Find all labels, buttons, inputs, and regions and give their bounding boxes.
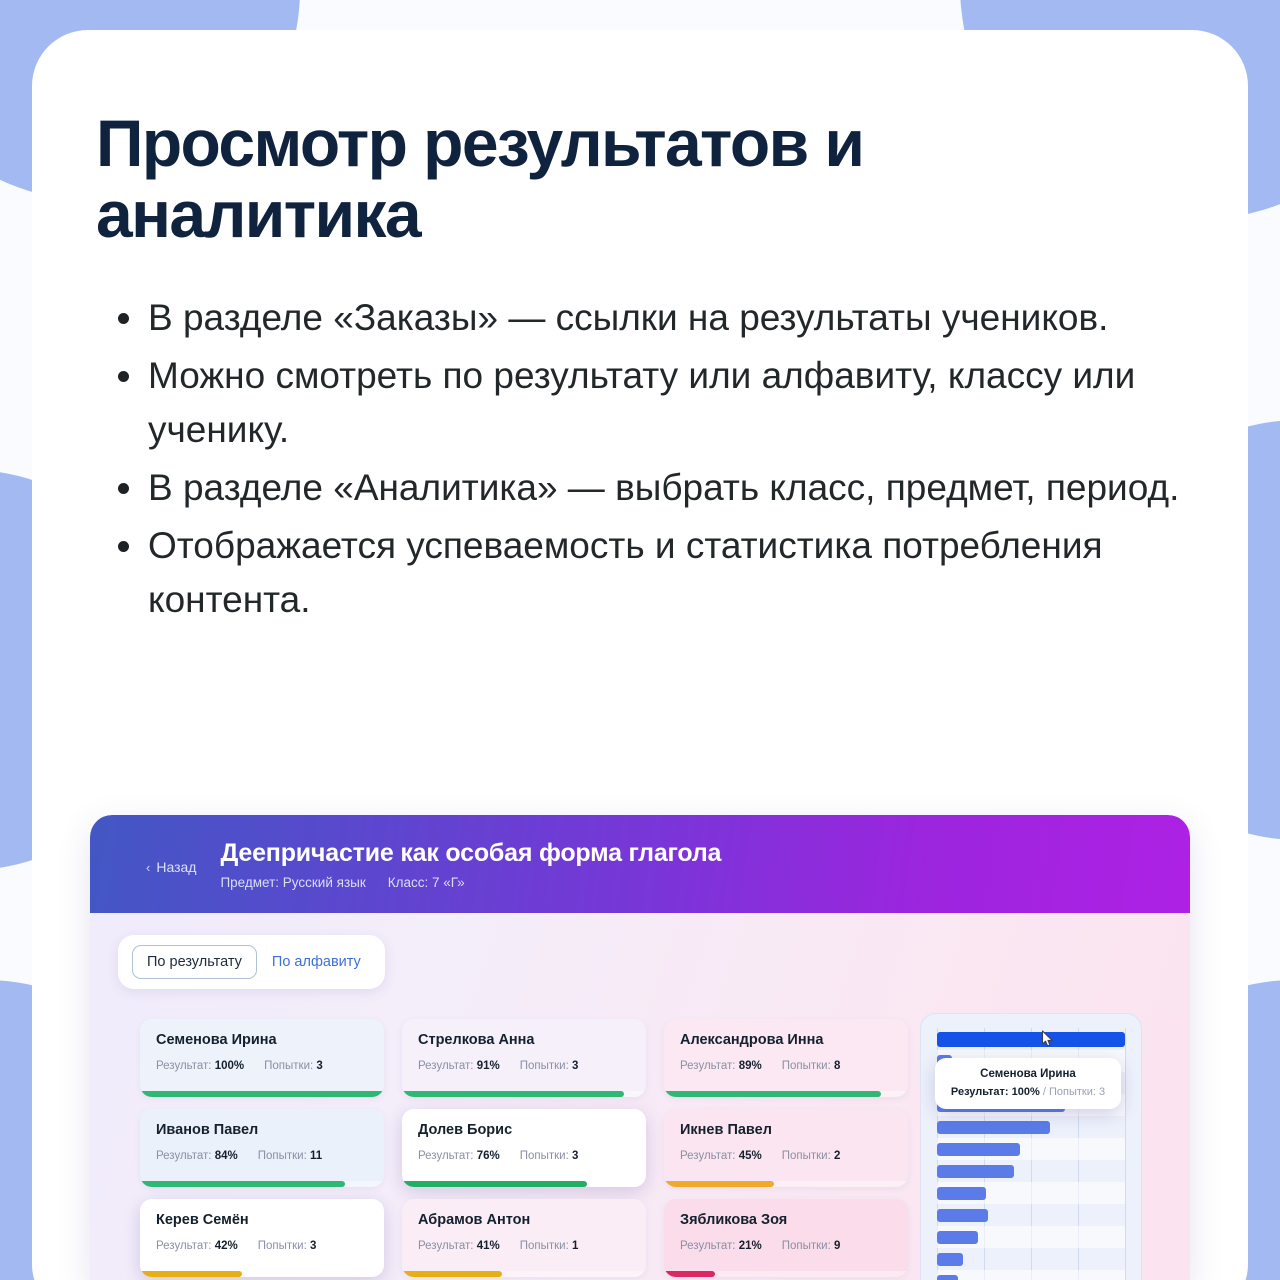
student-card[interactable]: Долев БорисРезультат: 76%Попытки: 3: [402, 1109, 646, 1187]
chart-bar[interactable]: [937, 1187, 986, 1200]
tooltip-meta: Результат: 100% / Попытки: 3: [943, 1086, 1113, 1098]
back-button-label: Назад: [156, 859, 196, 875]
student-name: Семенова Ирина: [156, 1032, 368, 1049]
chart-row[interactable]: [937, 1270, 1125, 1280]
student-name: Долев Борис: [418, 1122, 630, 1139]
student-name: Абрамов Антон: [418, 1212, 630, 1229]
student-card-grid: Семенова ИринаРезультат: 100%Попытки: 3С…: [140, 1019, 930, 1280]
student-result: Результат: 21%: [680, 1240, 762, 1252]
chart-tooltip: Семенова Ирина Результат: 100% / Попытки…: [935, 1058, 1121, 1109]
student-progress-track: [664, 1091, 908, 1097]
student-progress-track: [140, 1181, 384, 1187]
app-subheader: Предмет: Русский язык Класс: 7 «Г»: [220, 875, 721, 890]
student-metrics: Результат: 91%Попытки: 3: [418, 1060, 630, 1072]
student-card[interactable]: Керев СемёнРезультат: 42%Попытки: 3: [140, 1199, 384, 1277]
student-progress-track: [140, 1091, 384, 1097]
student-progress-track: [402, 1271, 646, 1277]
student-card[interactable]: Зябликова ЗояРезультат: 21%Попытки: 9: [664, 1199, 908, 1277]
student-progress-fill: [140, 1271, 242, 1277]
student-result: Результат: 76%: [418, 1150, 500, 1162]
chart-row[interactable]: [937, 1160, 1125, 1182]
student-attempts: Попытки: 3: [520, 1150, 579, 1162]
student-card[interactable]: Иванов ПавелРезультат: 84%Попытки: 11: [140, 1109, 384, 1187]
student-progress-fill: [664, 1271, 715, 1277]
student-progress-fill: [402, 1091, 624, 1097]
slide-card: Просмотр результатов и аналитика В разде…: [32, 30, 1248, 1280]
chart-bar[interactable]: [937, 1121, 1050, 1134]
tooltip-separator: /: [1040, 1086, 1049, 1098]
list-item: В разделе «Аналитика» — выбрать класс, п…: [96, 461, 1184, 515]
student-progress-fill: [402, 1271, 502, 1277]
chart-row[interactable]: [937, 1182, 1125, 1204]
bullet-list: В разделе «Заказы» — ссылки на результат…: [96, 291, 1184, 627]
student-result: Результат: 42%: [156, 1240, 238, 1252]
student-attempts: Попытки: 1: [520, 1240, 579, 1252]
student-name: Икнев Павел: [680, 1122, 892, 1139]
student-progress-track: [140, 1271, 384, 1277]
chart-gridline: [1125, 1028, 1126, 1280]
student-metrics: Результат: 100%Попытки: 3: [156, 1060, 368, 1072]
student-metrics: Результат: 42%Попытки: 3: [156, 1240, 368, 1252]
student-attempts: Попытки: 11: [258, 1150, 322, 1162]
student-attempts: Попытки: 9: [782, 1240, 841, 1252]
student-card[interactable]: Стрелкова АннаРезультат: 91%Попытки: 3: [402, 1019, 646, 1097]
chevron-left-icon: ‹: [146, 861, 150, 874]
student-metrics: Результат: 21%Попытки: 9: [680, 1240, 892, 1252]
student-progress-track: [664, 1271, 908, 1277]
student-result: Результат: 84%: [156, 1150, 238, 1162]
tooltip-result: Результат: 100%: [951, 1086, 1040, 1098]
subject-label: Предмет: Русский язык: [220, 875, 365, 890]
app-header: ‹ Назад Деепричастие как особая форма гл…: [90, 815, 1190, 913]
student-progress-track: [664, 1181, 908, 1187]
chart-row[interactable]: [937, 1138, 1125, 1160]
student-name: Зябликова Зоя: [680, 1212, 892, 1229]
tooltip-student-name: Семенова Ирина: [943, 1068, 1113, 1080]
student-attempts: Попытки: 3: [264, 1060, 323, 1072]
student-metrics: Результат: 45%Попытки: 2: [680, 1150, 892, 1162]
chart-row[interactable]: [937, 1028, 1125, 1050]
results-chart-panel: Семенова Ирина Результат: 100% / Попытки…: [920, 1013, 1142, 1280]
chart-bar[interactable]: [937, 1231, 978, 1244]
student-result: Результат: 41%: [418, 1240, 500, 1252]
chart-bar[interactable]: [937, 1032, 1125, 1047]
student-card[interactable]: Семенова ИринаРезультат: 100%Попытки: 3: [140, 1019, 384, 1097]
tab-by-result[interactable]: По результату: [132, 945, 257, 979]
chart-row[interactable]: [937, 1116, 1125, 1138]
list-item: В разделе «Заказы» — ссылки на результат…: [96, 291, 1184, 345]
student-card[interactable]: Икнев ПавелРезультат: 45%Попытки: 2: [664, 1109, 908, 1187]
app-screenshot: ‹ Назад Деепричастие как особая форма гл…: [90, 815, 1190, 1280]
student-card[interactable]: Александрова ИннаРезультат: 89%Попытки: …: [664, 1019, 908, 1097]
student-name: Иванов Павел: [156, 1122, 368, 1139]
student-result: Результат: 89%: [680, 1060, 762, 1072]
student-result: Результат: 100%: [156, 1060, 244, 1072]
chart-bar[interactable]: [937, 1209, 988, 1222]
tooltip-attempts: Попытки: 3: [1049, 1086, 1105, 1098]
student-name: Керев Семён: [156, 1212, 368, 1229]
student-progress-fill: [664, 1181, 774, 1187]
class-label: Класс: 7 «Г»: [388, 875, 465, 890]
student-progress-fill: [402, 1181, 587, 1187]
chart-row[interactable]: [937, 1248, 1125, 1270]
student-attempts: Попытки: 3: [520, 1060, 579, 1072]
app-title: Деепричастие как особая форма глагола: [220, 838, 721, 868]
list-item: Можно смотреть по результату или алфавит…: [96, 349, 1184, 457]
student-attempts: Попытки: 3: [258, 1240, 317, 1252]
chart-bar[interactable]: [937, 1165, 1014, 1178]
student-name: Александрова Инна: [680, 1032, 892, 1049]
student-result: Результат: 91%: [418, 1060, 500, 1072]
student-name: Стрелкова Анна: [418, 1032, 630, 1049]
student-metrics: Результат: 76%Попытки: 3: [418, 1150, 630, 1162]
tab-by-alphabet[interactable]: По алфавиту: [257, 945, 376, 979]
student-progress-track: [402, 1091, 646, 1097]
chart-bar[interactable]: [937, 1275, 958, 1280]
student-result: Результат: 45%: [680, 1150, 762, 1162]
student-attempts: Попытки: 8: [782, 1060, 841, 1072]
chart-row[interactable]: [937, 1204, 1125, 1226]
chart-bar[interactable]: [937, 1143, 1020, 1156]
student-progress-fill: [664, 1091, 881, 1097]
student-metrics: Результат: 41%Попытки: 1: [418, 1240, 630, 1252]
student-metrics: Результат: 84%Попытки: 11: [156, 1150, 368, 1162]
student-progress-fill: [140, 1091, 384, 1097]
student-progress-fill: [140, 1181, 345, 1187]
student-attempts: Попытки: 2: [782, 1150, 841, 1162]
page-title: Просмотр результатов и аналитика: [96, 108, 1056, 249]
chart-bar[interactable]: [937, 1253, 963, 1266]
sort-toggle-group: По результату По алфавиту: [118, 935, 385, 989]
student-metrics: Результат: 89%Попытки: 8: [680, 1060, 892, 1072]
app-body: По результату По алфавиту Семенова Ирина…: [90, 913, 1190, 1280]
back-button[interactable]: ‹ Назад: [146, 859, 196, 875]
student-card[interactable]: Абрамов АнтонРезультат: 41%Попытки: 1: [402, 1199, 646, 1277]
list-item: Отображается успеваемость и статистика п…: [96, 519, 1184, 627]
chart-row[interactable]: [937, 1226, 1125, 1248]
student-progress-track: [402, 1181, 646, 1187]
